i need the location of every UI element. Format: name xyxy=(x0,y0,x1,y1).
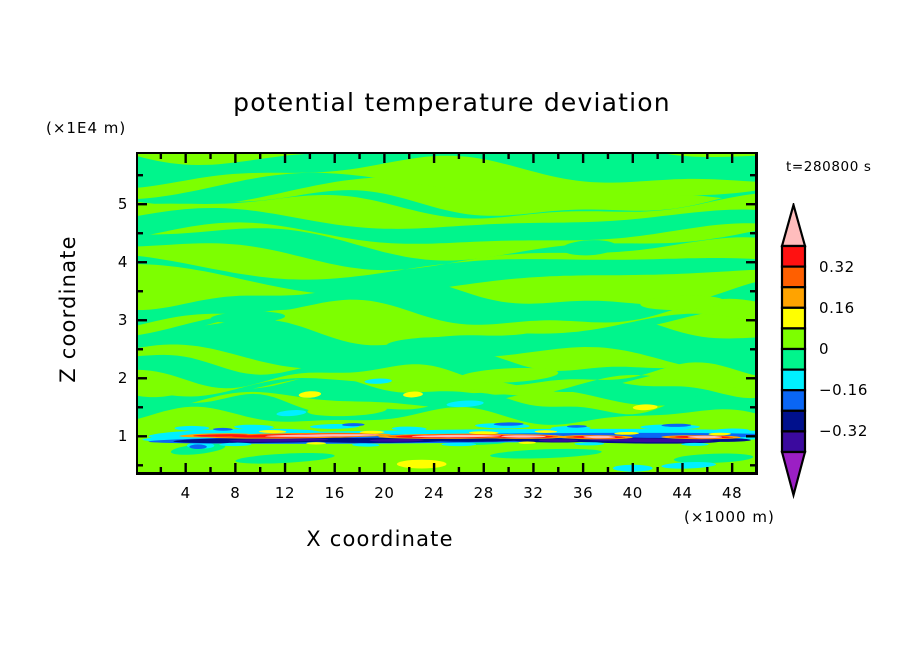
x-tick-label: 12 xyxy=(275,484,295,502)
chart-title: potential temperature deviation xyxy=(0,88,904,117)
colorbar-over-arrow xyxy=(782,205,805,246)
x-tick-label: 48 xyxy=(722,484,742,502)
colorbar xyxy=(776,203,828,523)
y-tick-label: 4 xyxy=(98,253,128,271)
contour-plot xyxy=(136,152,758,475)
x-axis-title: X coordinate xyxy=(0,527,760,551)
x-tick-label: 24 xyxy=(424,484,444,502)
colorbar-tick-label: 0 xyxy=(819,340,829,358)
x-tick-label: 20 xyxy=(374,484,394,502)
y-tick-label: 1 xyxy=(98,427,128,445)
x-tick-label: 4 xyxy=(181,484,191,502)
timestamp-annotation: t=280800 s xyxy=(786,159,871,175)
y-tick-label: 2 xyxy=(98,369,128,387)
y-tick-label: 3 xyxy=(98,311,128,329)
y-tick-label: 5 xyxy=(98,195,128,213)
colorbar-under-arrow xyxy=(782,452,805,495)
x-axis-units: (×1000 m) xyxy=(684,508,775,526)
x-tick-label: 44 xyxy=(672,484,692,502)
x-tick-label: 8 xyxy=(230,484,240,502)
colorbar-tick-label: −0.16 xyxy=(819,381,868,399)
x-tick-label: 40 xyxy=(623,484,643,502)
x-tick-label: 36 xyxy=(573,484,593,502)
x-tick-label: 16 xyxy=(325,484,345,502)
y-axis-title: Z coordinate xyxy=(56,214,80,404)
colorbar-tick-label: −0.32 xyxy=(819,422,868,440)
colorbar-tick-label: 0.32 xyxy=(819,258,855,276)
colorbar-tick-label: 0.16 xyxy=(819,299,855,317)
x-tick-label: 32 xyxy=(523,484,543,502)
x-tick-label: 28 xyxy=(474,484,494,502)
figure-canvas: potential temperature deviation (×1E4 m)… xyxy=(0,0,904,654)
y-axis-units: (×1E4 m) xyxy=(46,119,126,137)
